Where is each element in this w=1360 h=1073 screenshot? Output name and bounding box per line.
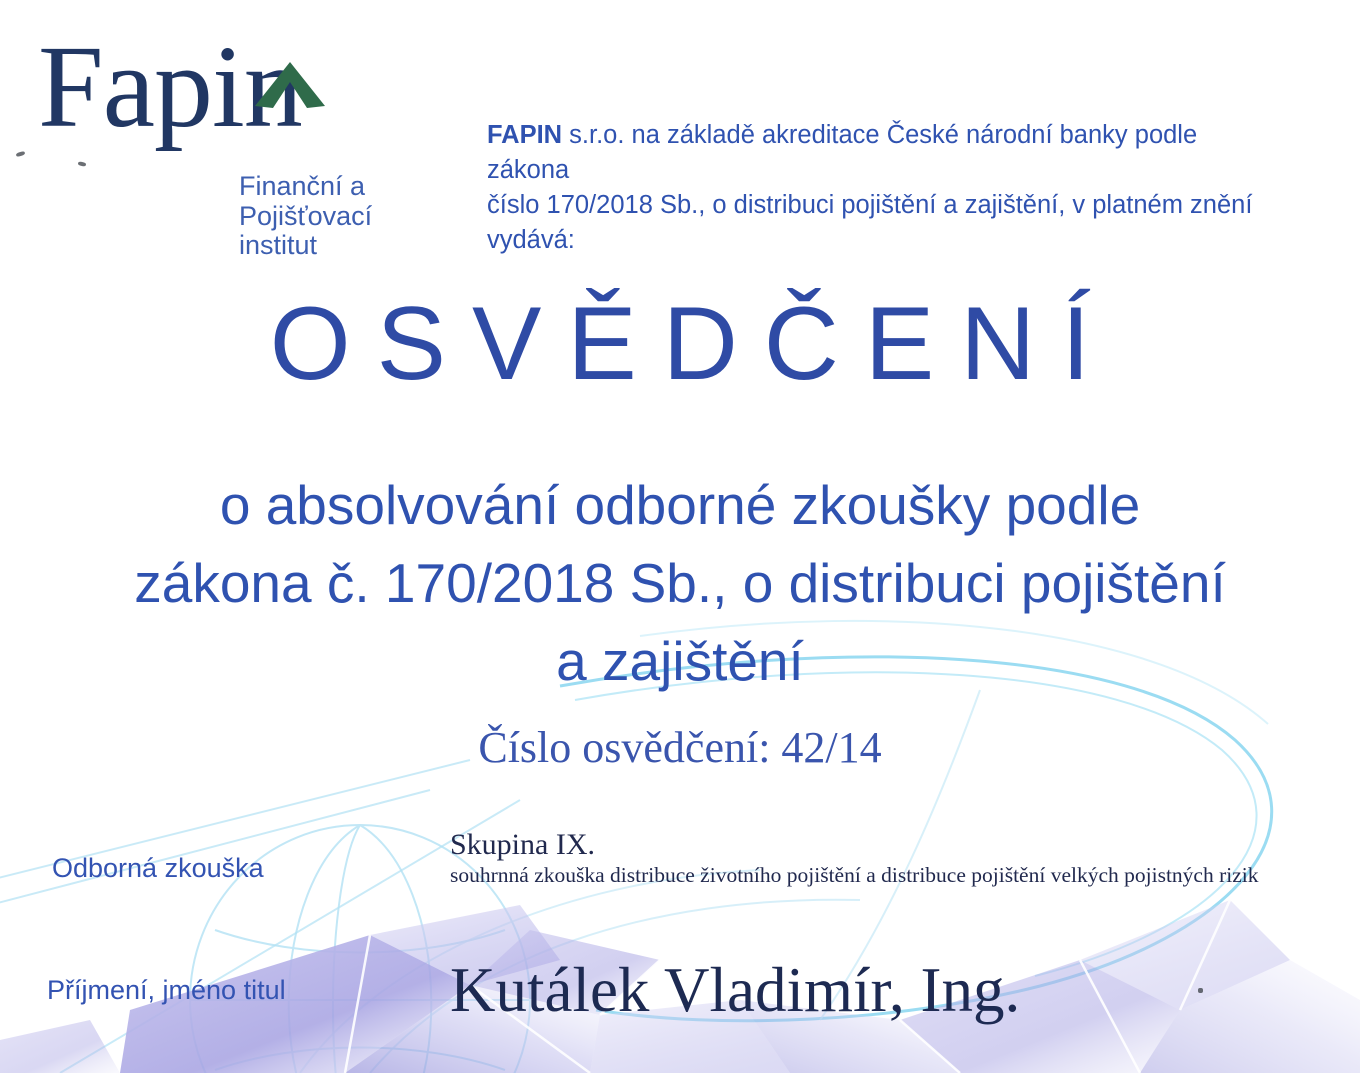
holder-name: Kutálek Vladimír, Ing. [450, 957, 1020, 1023]
issuer-statement-line-1: FAPIN s.r.o. na základě akreditace České… [487, 118, 1277, 188]
certificate-number: Číslo osvědčení: 42/14 [0, 726, 1360, 770]
label-prijmeni-jmeno-titul: Příjmení, jméno titul [47, 975, 286, 1006]
page-subtitle-line-3: a zajištění [0, 622, 1360, 700]
page-subtitle-line-2: zákona č. 170/2018 Sb., o distribuci poj… [0, 544, 1360, 622]
issuer-statement-line-1-rest: s.r.o. na základě akreditace České národ… [487, 121, 1197, 184]
page-subtitle: o absolvování odborné zkoušky podle záko… [0, 466, 1360, 700]
exam-group: Skupina IX. [450, 828, 1345, 862]
issuer-statement-line-3: vydává: [487, 223, 1277, 258]
scan-speckle [1198, 988, 1203, 993]
page-title: OSVĚDČENÍ [0, 292, 1360, 396]
issuer-brand: FAPIN [487, 121, 562, 149]
fapin-logo: Fapin Finanční a Pojišťovací institut [34, 26, 464, 206]
page-subtitle-line-1: o absolvování odborné zkoušky podle [0, 466, 1360, 544]
logo-tagline-line-1: Finanční a Pojišťovací [239, 172, 489, 231]
cyan-diagonal-group [0, 760, 520, 1073]
logo-tagline-line-2: institut [239, 231, 489, 261]
scan-speckle [16, 151, 26, 158]
label-odborna-zkouska: Odborná zkouška [52, 853, 264, 884]
logo-tagline: Finanční a Pojišťovací institut [239, 172, 489, 261]
issuer-statement: FAPIN s.r.o. na základě akreditace České… [487, 118, 1277, 258]
exam-description: souhrnná zkouška distribuce životního po… [450, 863, 1345, 889]
certificate-page: Fapin Finanční a Pojišťovací institut FA… [0, 0, 1360, 1073]
issuer-statement-line-2: číslo 170/2018 Sb., o distribuci pojiště… [487, 188, 1277, 223]
exam-value-block: Skupina IX. souhrnná zkouška distribuce … [450, 828, 1345, 888]
green-chevron-icon [253, 62, 327, 108]
